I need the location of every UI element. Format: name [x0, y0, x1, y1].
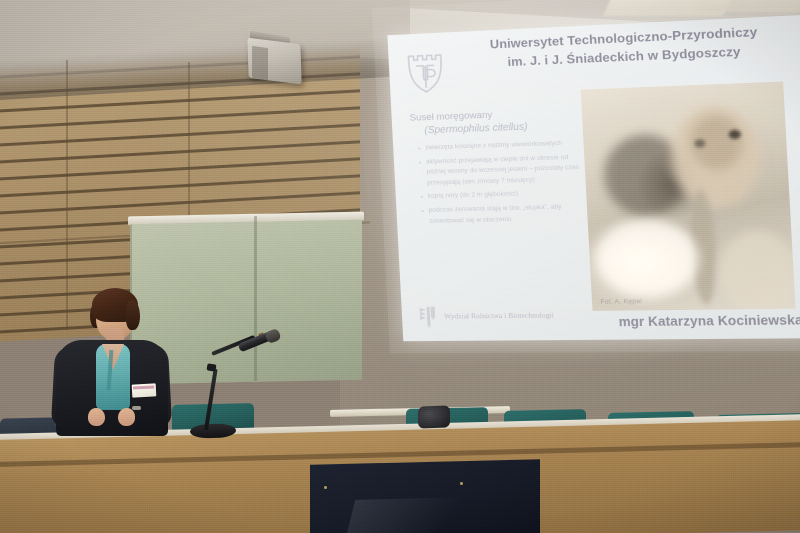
- slide-text-column: Suseł moręgowany (Spermophilus citellus)…: [405, 106, 586, 231]
- microphone-stand-clamp: [207, 363, 217, 371]
- faculty-mark: Wydział Rolnictwa i Biotechnologii: [417, 303, 554, 329]
- slide-bullet-list: zwierzęta kolonijne z rodziny wiewiórkow…: [407, 138, 586, 227]
- desk-equipment: [418, 405, 450, 428]
- chalkboard-divider: [254, 216, 257, 381]
- projection-screen: Uniwersytet Technologiczno-Przyrodniczy …: [372, 0, 800, 353]
- bracelet: [132, 406, 141, 410]
- presentation-slide: Uniwersytet Technologiczno-Przyrodniczy …: [387, 15, 800, 341]
- utp-shield-crest-icon: [404, 49, 447, 95]
- presenter-name: mgr Katarzyna Kociniewska: [618, 313, 800, 329]
- speaker-grille: [252, 46, 268, 81]
- panel-screw: [324, 486, 327, 489]
- photo-ground-texture: [717, 229, 796, 311]
- list-item: podczas żerowania stają w tzw. „słupka”,…: [428, 202, 585, 227]
- photo-ground-highlight: [594, 219, 701, 298]
- slide-title: Uniwersytet Technologiczno-Przyrodniczy …: [450, 21, 800, 73]
- list-item: kopią nory (do 2 m głębokości): [428, 188, 585, 203]
- list-item: aktywność przejawiają w ciepłe dni w okr…: [426, 152, 584, 188]
- panel-screw: [460, 482, 463, 485]
- european-ground-squirrel-photo: Fot. A. Kępel: [581, 81, 796, 310]
- photo-credit: Fot. A. Kępel: [600, 298, 642, 306]
- faculty-wheat-logo-icon: [417, 305, 438, 329]
- hand-left: [88, 408, 105, 426]
- list-item: zwierzęta kolonijne z rodziny wiewiórkow…: [425, 138, 582, 154]
- hair: [126, 300, 140, 330]
- presenter-standing: [56, 288, 168, 436]
- lecture-hall-photo: Uniwersytet Technologiczno-Przyrodniczy …: [0, 0, 800, 533]
- hand-right: [118, 408, 135, 426]
- slide-header: Uniwersytet Technologiczno-Przyrodniczy …: [387, 17, 800, 93]
- faculty-label: Wydział Rolnictwa i Biotechnologii: [444, 311, 554, 320]
- podium-panel-reflection: [345, 496, 515, 533]
